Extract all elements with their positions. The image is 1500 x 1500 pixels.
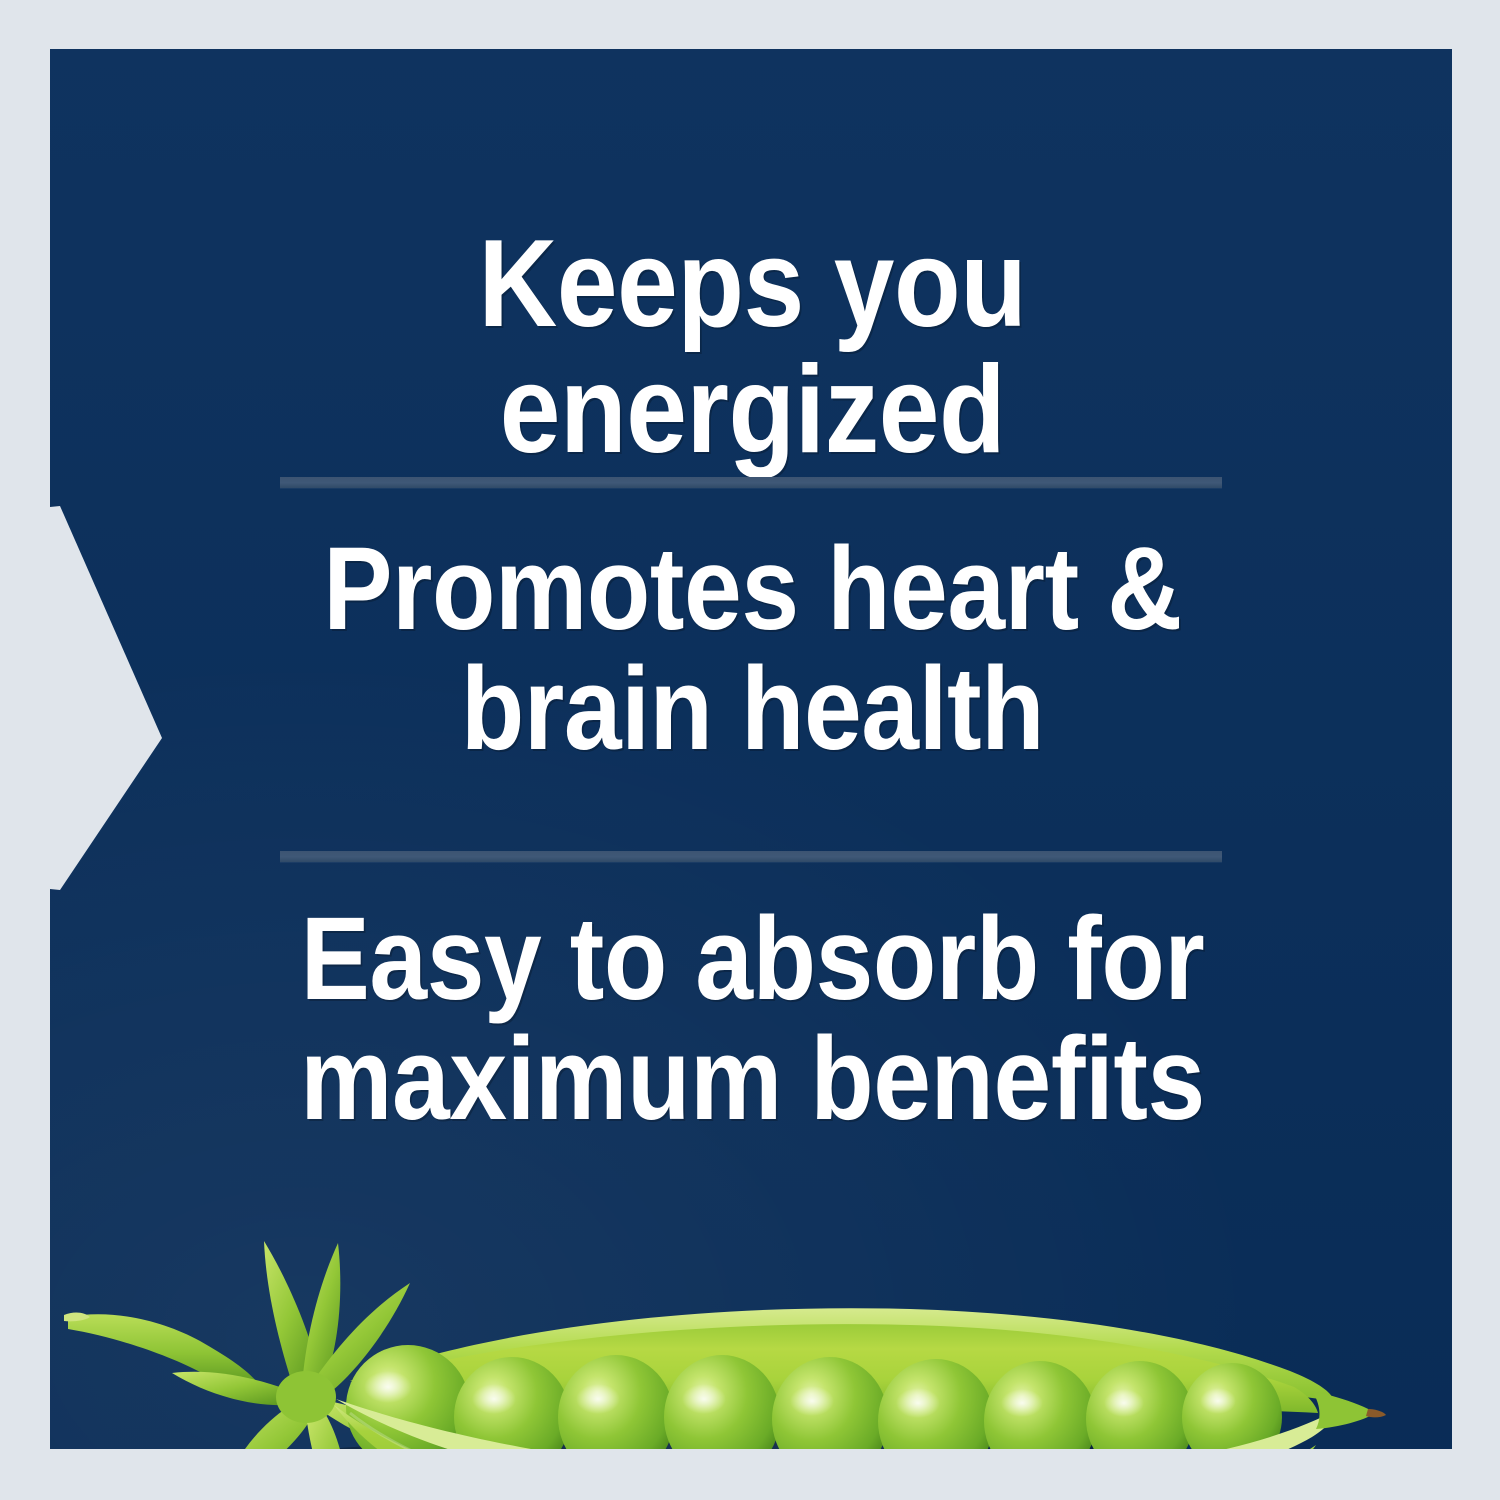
peapod-glow — [220, 1349, 1280, 1449]
benefit-text-absorption: Easy to absorb for maximum benefits — [275, 899, 1230, 1140]
pea — [878, 1359, 994, 1449]
pea — [1086, 1361, 1194, 1449]
section-divider-2 — [280, 851, 1222, 862]
pod-stem-tip — [64, 1313, 90, 1322]
pod-front-shell — [334, 1405, 1316, 1449]
section-divider-1 — [280, 477, 1222, 488]
pod-right-tip — [1312, 1391, 1376, 1429]
benefit-text-heart-brain: Promotes heart & brain health — [275, 529, 1230, 770]
pod-front-inner-lip — [336, 1399, 1338, 1449]
pod-tip-nub — [1366, 1409, 1386, 1417]
pod-shadow — [230, 1435, 1270, 1449]
poster-canvas: Keeps you energized Promotes heart & bra… — [0, 0, 1500, 1500]
pea — [346, 1345, 470, 1449]
pea — [984, 1361, 1096, 1449]
pea — [558, 1355, 674, 1449]
navy-content-panel: Keeps you energized Promotes heart & bra… — [50, 49, 1452, 1449]
pod-stem — [68, 1314, 258, 1384]
pea — [454, 1357, 570, 1449]
peapod-image — [50, 1169, 1452, 1449]
peapod-illustration — [50, 1169, 1452, 1449]
panel-content: Keeps you energized Promotes heart & bra… — [50, 49, 1452, 1449]
pea — [664, 1355, 780, 1449]
pod-back-shell — [350, 1324, 1318, 1413]
pod-calyx — [172, 1241, 440, 1449]
pea-group — [346, 1345, 1282, 1449]
pea — [1182, 1363, 1282, 1449]
pod-back-rim — [350, 1308, 1334, 1401]
benefit-text-energy: Keeps you energized — [275, 221, 1230, 474]
pod-front-highlight — [350, 1413, 1130, 1449]
pea — [772, 1357, 888, 1449]
